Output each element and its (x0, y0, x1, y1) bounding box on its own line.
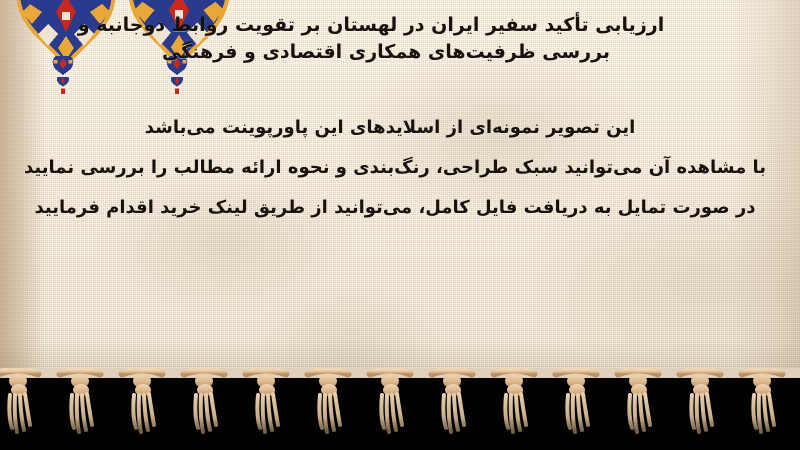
body-line-design-review: با مشاهده آن می‌توانید سبک طراحی، رنگ‌بن… (0, 148, 790, 188)
slide-title-line-2: بررسی ظرفیت‌های همکاری اقتصادی و فرهنگی (0, 39, 772, 66)
slide-title: ارزیابی تأکید سفیر ایران در لهستان بر تق… (0, 12, 772, 66)
text-layer: ارزیابی تأکید سفیر ایران در لهستان بر تق… (0, 0, 800, 392)
slide-title-line-1: ارزیابی تأکید سفیر ایران در لهستان بر تق… (0, 12, 772, 39)
slide-body: این تصویر نمونه‌ای از اسلایدهای این پاور… (0, 108, 790, 228)
body-line-sample-notice: این تصویر نمونه‌ای از اسلایدهای این پاور… (0, 108, 790, 148)
slide-canvas: ارزیابی تأکید سفیر ایران در لهستان بر تق… (0, 0, 800, 450)
body-line-purchase-link: در صورت تمایل به دریافت فایل کامل، می‌تو… (0, 188, 790, 228)
